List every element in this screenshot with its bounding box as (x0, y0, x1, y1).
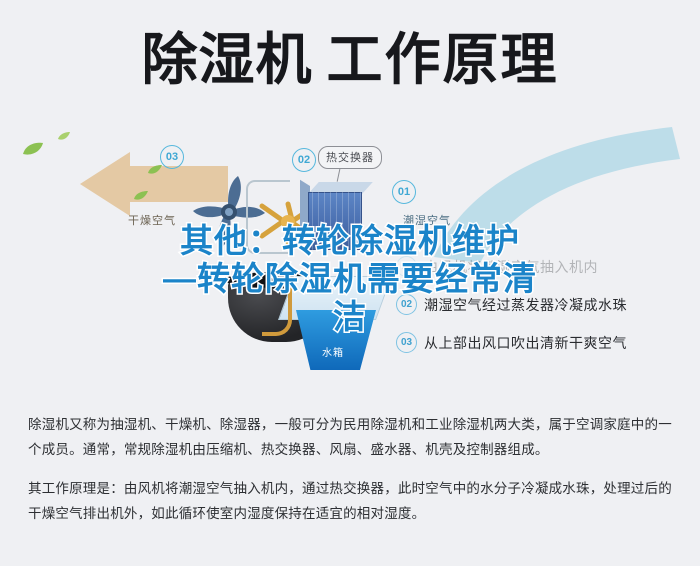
moist-air-swoosh (422, 125, 682, 265)
diagram-badge-02: 02 (292, 148, 316, 172)
diagram-badge-01: 01 (392, 180, 416, 204)
water-tank-label: 水箱 (322, 344, 344, 359)
legend-text: 从上部出风口吹出清新干爽空气 (424, 333, 627, 353)
page-title: 除湿机工作原理 (0, 28, 700, 92)
diagram-badge-03: 03 (160, 145, 184, 169)
legend-text: 由风机将潮湿空气抽入机内 (424, 257, 598, 277)
leaf-icon (148, 162, 162, 180)
page-title-part-2: 工作原理 (327, 28, 559, 92)
body-paragraph-1: 除湿机又称为抽湿机、干燥机、除湿器，一般可分为民用除湿机和工业除湿机两大类，属于… (28, 412, 676, 462)
moist-air-label: 潮湿空气 (403, 212, 451, 228)
legend-list: 01 由风机将潮湿空气抽入机内 02 潮湿空气经过蒸发器冷凝成水珠 03 从上部… (396, 256, 696, 370)
page-root: 除湿机工作原理 干燥空气 (0, 0, 700, 566)
legend-badge: 01 (396, 256, 417, 277)
article-body: 除湿机又称为抽湿机、干燥机、除湿器，一般可分为民用除湿机和工业除湿机两大类，属于… (28, 412, 676, 540)
legend-text: 潮湿空气经过蒸发器冷凝成水珠 (424, 295, 627, 315)
heat-exchanger-callout: 热交换器 (318, 146, 382, 169)
page-title-part-1: 除湿机 (142, 28, 313, 92)
heat-exchanger-unit (300, 182, 380, 254)
water-tank (296, 310, 376, 370)
legend-badge: 02 (396, 294, 417, 315)
leaf-icon (22, 142, 44, 161)
list-item: 02 潮湿空气经过蒸发器冷凝成水珠 (396, 294, 696, 315)
drain-hose (262, 288, 292, 336)
leaf-icon (134, 188, 148, 206)
list-item: 03 从上部出风口吹出清新干爽空气 (396, 332, 696, 353)
list-item: 01 由风机将潮湿空气抽入机内 (396, 256, 696, 277)
legend-badge: 03 (396, 332, 417, 353)
dry-air-label: 干燥空气 (128, 212, 176, 228)
leaf-icon (58, 128, 70, 146)
body-paragraph-2: 其工作原理是：由风机将潮湿空气抽入机内，通过热交换器，此时空气中的水分子冷凝成水… (28, 476, 676, 526)
machine-base: 水箱 (218, 270, 403, 385)
